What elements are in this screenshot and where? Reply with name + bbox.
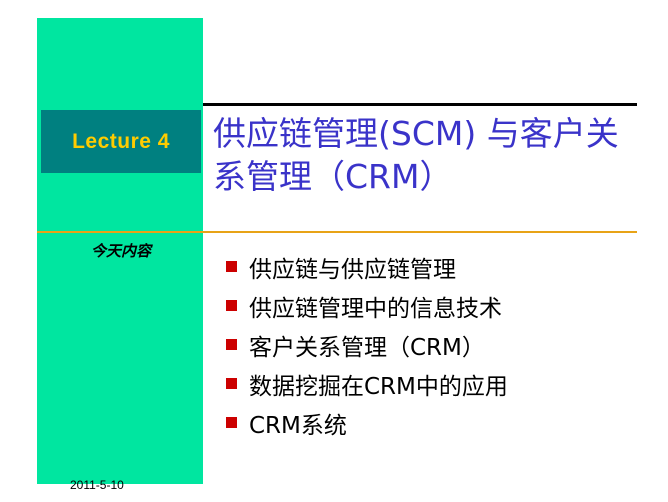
list-item: CRM系统 [226, 403, 636, 442]
list-item: 供应链管理中的信息技术 [226, 286, 636, 325]
list-item-label: 数据挖掘在CRM中的应用 [249, 367, 508, 401]
content-heading: 今天内容 [48, 240, 194, 261]
title-bottom-rule [37, 231, 637, 233]
lecture-badge-label: Lecture 4 [72, 130, 170, 154]
square-bullet-icon [226, 339, 237, 350]
bullet-list: 供应链与供应链管理 供应链管理中的信息技术 客户关系管理（CRM） 数据挖掘在C… [226, 247, 636, 442]
list-item: 供应链与供应链管理 [226, 247, 636, 286]
list-item-label: 供应链与供应链管理 [249, 250, 456, 284]
square-bullet-icon [226, 261, 237, 272]
list-item-label: 供应链管理中的信息技术 [249, 289, 502, 323]
title-top-rule [203, 103, 637, 106]
square-bullet-icon [226, 378, 237, 389]
list-item: 客户关系管理（CRM） [226, 325, 636, 364]
list-item-label: CRM系统 [249, 406, 347, 440]
square-bullet-icon [226, 300, 237, 311]
square-bullet-icon [226, 417, 237, 428]
slide-title: 供应链管理(SCM) 与客户关系管理（CRM） [213, 112, 643, 198]
list-item-label: 客户关系管理（CRM） [249, 328, 485, 362]
list-item: 数据挖掘在CRM中的应用 [226, 364, 636, 403]
slide-canvas: Lecture 4 供应链管理(SCM) 与客户关系管理（CRM） 今天内容 供… [0, 0, 668, 502]
lecture-badge: Lecture 4 [41, 110, 201, 173]
slide-date: 2011-5-10 [70, 478, 124, 492]
